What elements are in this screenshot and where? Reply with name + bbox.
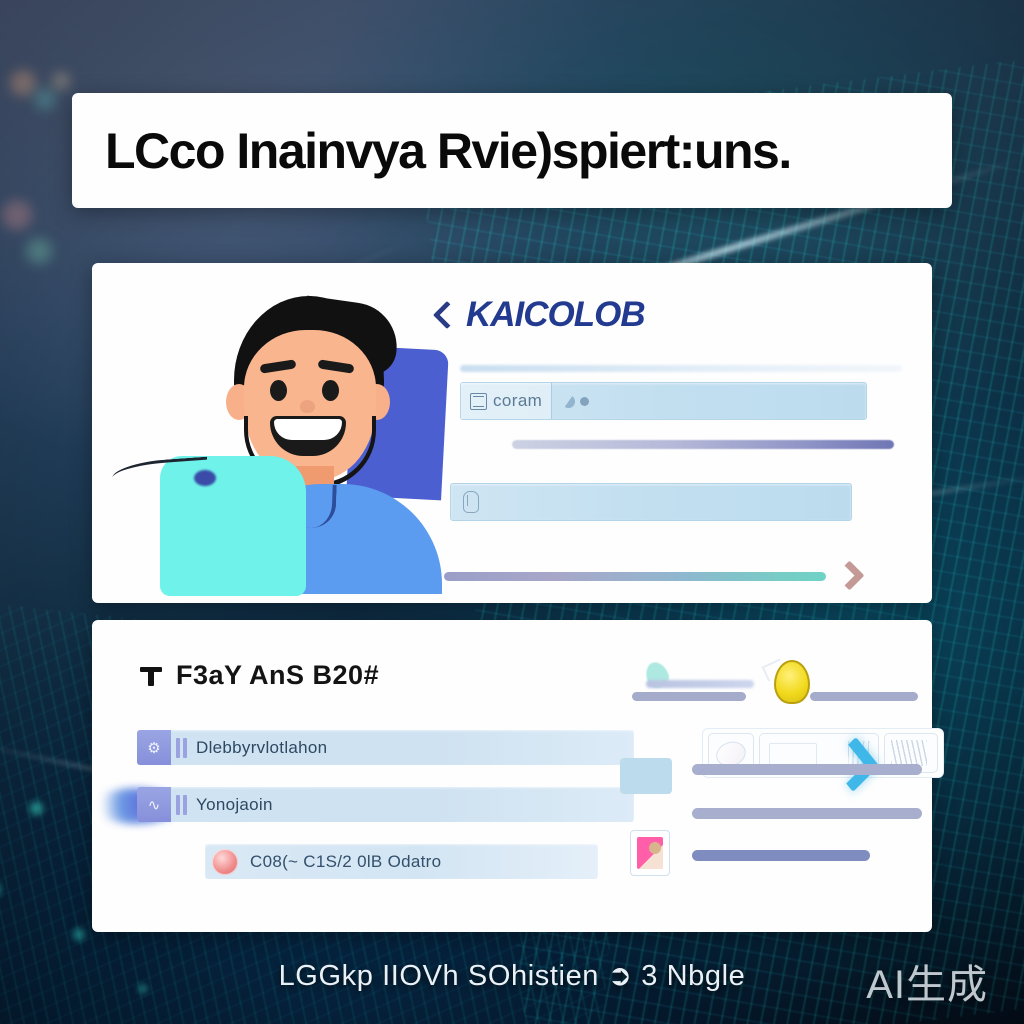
placeholder-text-line (646, 680, 754, 688)
row-bars-icon (176, 738, 187, 758)
wave-icon: ∿ (137, 787, 171, 822)
lines-card-icon (891, 740, 927, 766)
list-rows: ⚙ Dlebbyrvlotlahon ∿ Yonojaoin C08(~ C1S… (137, 730, 637, 901)
avatar-eye-right (322, 380, 339, 401)
summary-bar (632, 692, 746, 701)
progress-bar-purple-teal (444, 572, 826, 581)
field-row-secondary[interactable] (450, 483, 852, 521)
alert-icon (212, 849, 238, 875)
avatar (182, 288, 442, 578)
half-moon-icon (560, 392, 578, 410)
progress-bar-row (444, 561, 902, 591)
list-panel-header: F3aY AnS B20# (140, 660, 379, 691)
blue-square-marker (620, 758, 672, 794)
photo-thumbnail-icon[interactable] (630, 830, 670, 876)
field-row-coram[interactable]: coram (460, 382, 867, 420)
list-item-label: Yonojaoin (196, 795, 273, 815)
chevron-right-icon[interactable] (836, 561, 862, 591)
avatar-nose (300, 400, 315, 413)
avatar-eye-left (270, 380, 287, 401)
filter-icon (140, 665, 162, 687)
back-chevron-icon[interactable] (432, 301, 454, 329)
brand-title: KAICOLOB (466, 295, 645, 335)
content-bar (692, 764, 922, 775)
page-title: LCco Inainvya Rvie)spiert:uns. (72, 122, 791, 180)
list-item[interactable]: ∿ Yonojaoin (137, 787, 634, 822)
list-panel: F3aY AnS B20# ⚙ Dlebbyrvlotlahon ∿ Yonoj… (92, 620, 932, 932)
thumbnail-image (637, 837, 663, 869)
brand-row: KAICOLOB (432, 295, 902, 335)
field-chip-label: coram (493, 391, 542, 411)
profile-panel: KAICOLOB coram (92, 263, 932, 603)
list-item[interactable]: ⚙ Dlebbyrvlotlahon (137, 730, 634, 765)
document-icon (470, 393, 487, 410)
list-item[interactable]: C08(~ C1S/2 0lB Odatro (205, 844, 598, 879)
list-item-label: Dlebbyrvlotlahon (196, 738, 327, 758)
list-panel-title: F3aY AnS B20# (176, 660, 379, 691)
field-sub-icons (552, 395, 589, 408)
row-bars-icon (176, 795, 187, 815)
placeholder-text-line (460, 365, 902, 372)
clip-icon (463, 491, 479, 513)
lightbulb-icon (774, 660, 810, 704)
content-bar (692, 808, 922, 819)
summary-bar (810, 692, 918, 701)
gear-icon: ⚙ (137, 730, 171, 765)
title-panel: LCco Inainvya Rvie)spiert:uns. (72, 93, 952, 208)
dot-icon (580, 397, 589, 406)
progress-bar-purple (512, 440, 894, 449)
field-chip: coram (461, 383, 552, 419)
list-panel-right-column (632, 652, 932, 912)
ai-generated-watermark: AI生成 (866, 952, 988, 1010)
profile-form-column: KAICOLOB coram (432, 287, 902, 591)
content-bar-active (692, 850, 870, 861)
list-item-label: C08(~ C1S/2 0lB Odatro (250, 852, 441, 872)
